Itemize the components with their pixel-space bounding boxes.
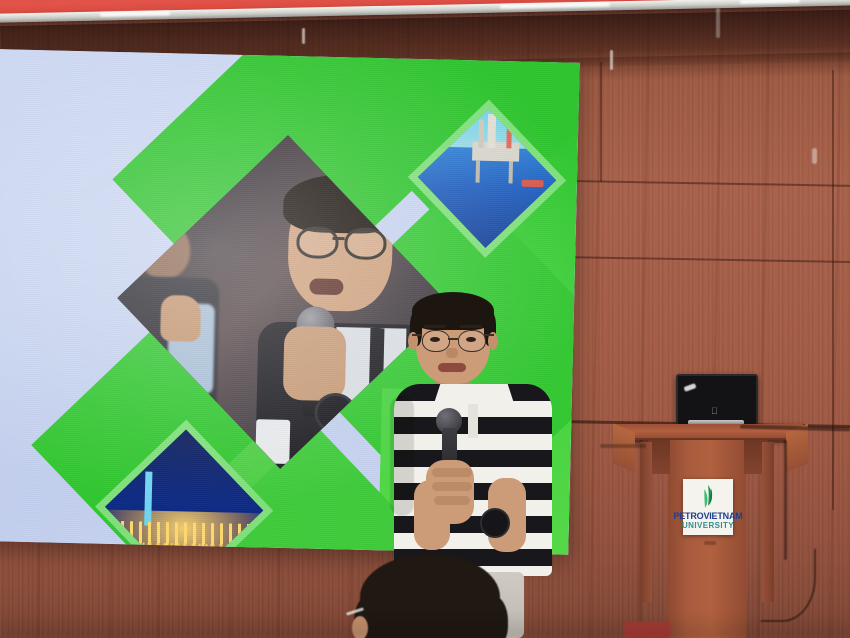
podium-sign-subtitle: UNIVERSITY (682, 522, 734, 530)
podium-sticker-mark (704, 541, 716, 545)
podium-column (668, 440, 746, 638)
speaker-glasses-temple (484, 334, 494, 336)
speaker-mouth (438, 363, 466, 372)
laptop-brand-icon:  (711, 406, 718, 416)
speaker-eyebrow (424, 325, 446, 328)
speaker-glasses-bridge (448, 338, 458, 340)
petrovietnam-flame-icon (698, 484, 718, 510)
rail-drip (610, 50, 613, 70)
speaker-shirt-placket (468, 404, 478, 438)
rail-highlight (100, 11, 170, 16)
speaker-nose (446, 348, 458, 358)
rail-highlight (740, 0, 800, 4)
bottom-vignette (0, 612, 850, 638)
podium-left-edge (640, 442, 652, 602)
speaker-finger (432, 482, 472, 491)
podium-cable (784, 440, 787, 560)
podium-university-sign: PETROVIETNAM UNIVERSITY (683, 479, 733, 535)
podium-sign-name: PETROVIETNAM (673, 512, 742, 521)
presentation-photo-scene: UON NAM (0, 0, 850, 638)
speaker-eye (430, 337, 440, 342)
speaker-eye (466, 337, 476, 342)
wall-blemish (812, 148, 817, 164)
rail-drip (716, 8, 720, 38)
laptop-screen:  (676, 374, 758, 426)
wall-cable (600, 444, 646, 448)
podium-left-slope (613, 424, 635, 473)
speaker-eyebrow (460, 325, 482, 328)
wall-panel-seam-vertical (832, 70, 834, 510)
speaker-glasses-temple (412, 334, 422, 336)
speaker-finger (434, 496, 470, 505)
speaker-finger (432, 468, 472, 477)
speaker-shoulder-shadow (390, 396, 414, 516)
speaker-wristwatch (480, 508, 510, 538)
rail-highlight (500, 2, 610, 8)
laptop-screen-glint (684, 383, 697, 392)
rail-drip (302, 28, 305, 44)
